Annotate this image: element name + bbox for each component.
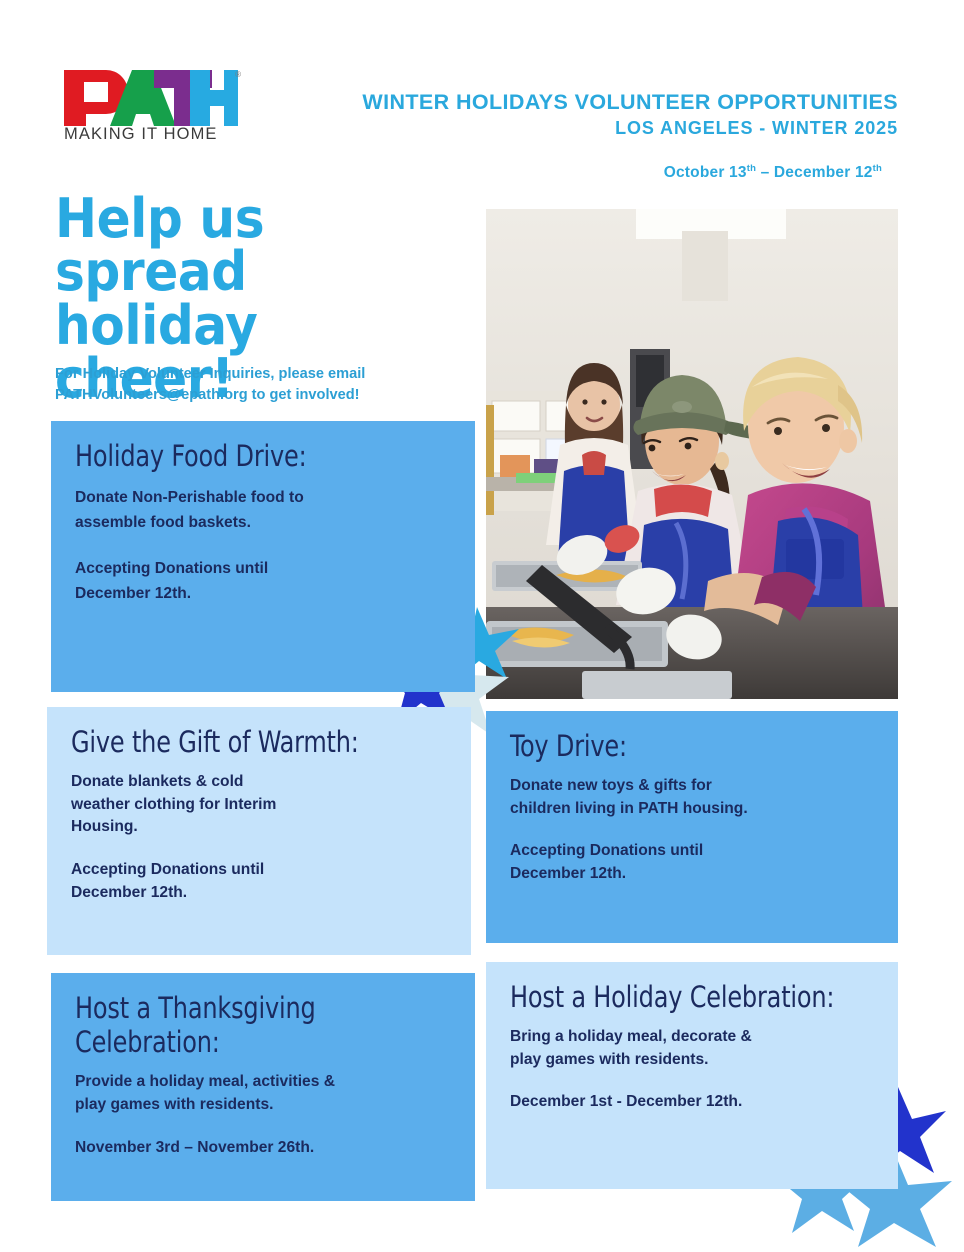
opportunity-card-gift-of-warmth: Give the Gift of Warmth: Donate blankets… (47, 707, 471, 955)
card-body: Bring a holiday meal, decorate & play ga… (510, 1026, 876, 1071)
path-logo-letters: ® (62, 68, 238, 126)
page-header: ® MAKING IT HOME WINTER HOLIDAYS VOLUNTE… (0, 0, 964, 195)
volunteers-photo (486, 209, 898, 699)
card-note: November 3rd – November 26th. (75, 1137, 453, 1160)
card-note: Accepting Donations until December 12th. (510, 840, 876, 885)
date-start: October 13 (664, 164, 747, 181)
card-heading: Host a Holiday Celebration: (510, 980, 847, 1014)
card-body: Provide a holiday meal, activities & pla… (75, 1071, 453, 1116)
card-note: Accepting Donations until December 12th. (75, 556, 453, 607)
opportunity-card-holiday-food-drive: Holiday Food Drive: Donate Non-Perishabl… (51, 421, 475, 692)
date-separator: – December 12 (756, 164, 873, 181)
card-heading: Give the Gift of Warmth: (71, 725, 419, 759)
header-date-range: October 13th – December 12th (664, 163, 882, 182)
card-note: December 1st - December 12th. (510, 1091, 876, 1114)
header-title: WINTER HOLIDAYS VOLUNTEER OPPORTUNITIES (362, 90, 898, 115)
opportunity-card-holiday-celebration: Host a Holiday Celebration: Bring a holi… (486, 962, 898, 1189)
logo-tagline: MAKING IT HOME (64, 125, 218, 144)
opportunity-card-thanksgiving-celebration: Host a Thanksgiving Celebration: Provide… (51, 973, 475, 1201)
headline-line-1: Help us spread (55, 187, 264, 303)
date-end-ordinal: th (873, 163, 882, 174)
card-note: Accepting Donations until December 12th. (71, 859, 449, 904)
card-heading: Host a Thanksgiving Celebration: (75, 991, 423, 1059)
volunteer-inquiry-text: For Holiday Volunteer Inquiries, please … (55, 364, 475, 406)
card-body: Donate blankets & cold weather clothing … (71, 771, 449, 839)
date-start-ordinal: th (747, 163, 756, 174)
header-subtitle: LOS ANGELES - WINTER 2025 (615, 118, 898, 139)
opportunity-card-toy-drive: Toy Drive: Donate new toys & gifts for c… (486, 711, 898, 943)
card-heading: Toy Drive: (510, 729, 847, 763)
path-logo: ® MAKING IT HOME (62, 68, 244, 150)
registered-trademark-icon: ® (235, 70, 241, 79)
card-heading: Holiday Food Drive: (75, 439, 423, 473)
card-body: Donate Non-Perishable food to assemble f… (75, 485, 453, 536)
card-body: Donate new toys & gifts for children liv… (510, 775, 876, 820)
